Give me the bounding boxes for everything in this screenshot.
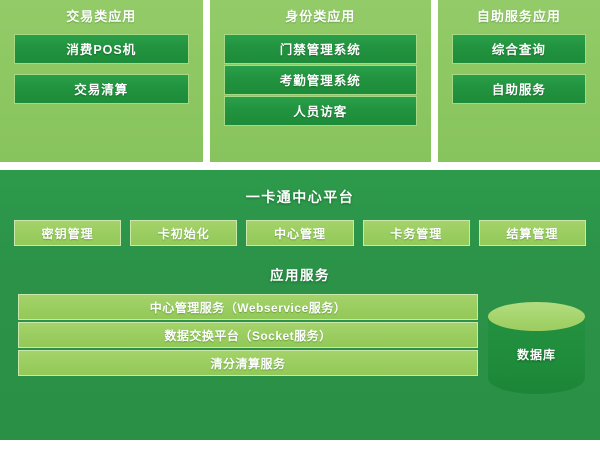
application-item-list-identity: 门禁管理系统 考勤管理系统 人员访客 (224, 34, 417, 126)
application-panel-identity: 身份类应用 门禁管理系统 考勤管理系统 人员访客 (210, 0, 431, 162)
application-item-access-control-system[interactable]: 门禁管理系统 (224, 34, 417, 64)
application-panel-self-service: 自助服务应用 综合查询 自助服务 (438, 0, 600, 162)
center-platform-section: 一卡通中心平台 密钥管理 卡初始化 中心管理 卡务管理 结算管理 应用服务 中心… (0, 170, 600, 440)
panel-title-self-service: 自助服务应用 (452, 9, 586, 25)
platform-module-card-service-management[interactable]: 卡务管理 (363, 220, 470, 246)
platform-title: 一卡通中心平台 (0, 170, 600, 207)
application-item-list-transaction: 消费POS机 交易清算 (14, 34, 189, 104)
platform-module-card-initialization[interactable]: 卡初始化 (130, 220, 237, 246)
platform-module-row: 密钥管理 卡初始化 中心管理 卡务管理 结算管理 (0, 207, 600, 246)
panel-title-transaction: 交易类应用 (14, 9, 189, 25)
platform-module-key-management[interactable]: 密钥管理 (14, 220, 121, 246)
platform-module-center-management[interactable]: 中心管理 (246, 220, 353, 246)
application-item-pos-terminal[interactable]: 消费POS机 (14, 34, 189, 64)
application-item-self-service[interactable]: 自助服务 (452, 74, 586, 104)
service-clearing-settlement[interactable]: 清分清算服务 (18, 350, 478, 376)
database-cylinder-top (488, 302, 585, 331)
panel-title-identity: 身份类应用 (224, 9, 417, 25)
application-item-list-self-service: 综合查询 自助服务 (452, 34, 586, 104)
application-services-area: 中心管理服务（Webservice服务） 数据交换平台（Socket服务） 清分… (0, 294, 600, 402)
application-services-list: 中心管理服务（Webservice服务） 数据交换平台（Socket服务） 清分… (18, 294, 478, 376)
database-cylinder-icon[interactable]: 数据库 (488, 302, 585, 394)
database-label: 数据库 (488, 346, 585, 363)
application-item-comprehensive-query[interactable]: 综合查询 (452, 34, 586, 64)
application-panels-row: 交易类应用 消费POS机 交易清算 身份类应用 门禁管理系统 考勤管理系统 人员… (0, 0, 600, 162)
application-item-attendance-system[interactable]: 考勤管理系统 (224, 65, 417, 95)
system-architecture-diagram: 交易类应用 消费POS机 交易清算 身份类应用 门禁管理系统 考勤管理系统 人员… (0, 0, 600, 450)
application-item-transaction-settlement[interactable]: 交易清算 (14, 74, 189, 104)
application-services-title: 应用服务 (0, 246, 600, 284)
service-data-exchange-socket[interactable]: 数据交换平台（Socket服务） (18, 322, 478, 348)
service-center-management-webservice[interactable]: 中心管理服务（Webservice服务） (18, 294, 478, 320)
application-item-visitor-management[interactable]: 人员访客 (224, 96, 417, 126)
application-panel-transaction: 交易类应用 消费POS机 交易清算 (0, 0, 203, 162)
platform-module-settlement-management[interactable]: 结算管理 (479, 220, 586, 246)
